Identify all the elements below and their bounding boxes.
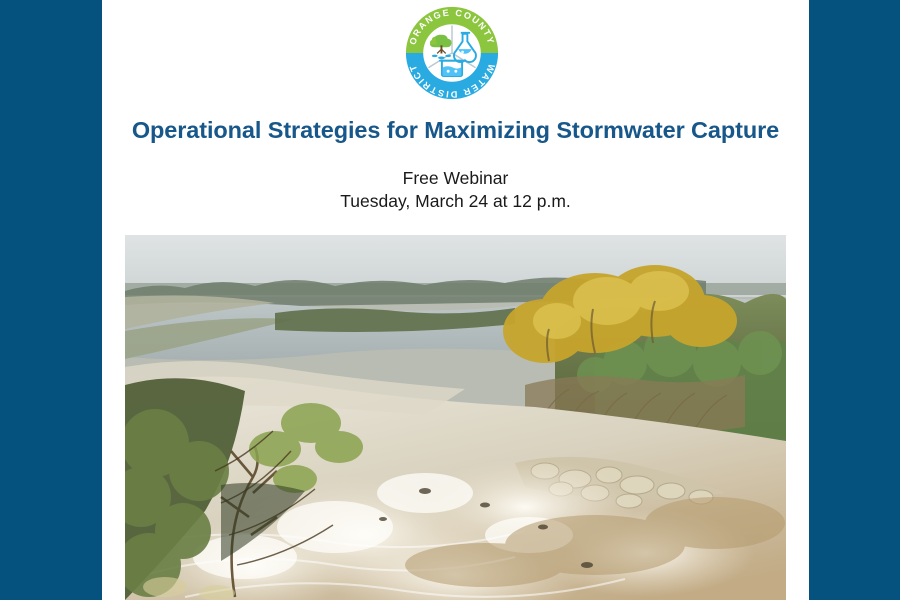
event-datetime-label: Tuesday, March 24 at 12 p.m. (102, 190, 809, 213)
event-type-label: Free Webinar (102, 167, 809, 190)
photo-illustration (125, 235, 786, 600)
page-title: Operational Strategies for Maximizing St… (102, 117, 809, 144)
event-details: Free Webinar Tuesday, March 24 at 12 p.m… (102, 167, 809, 213)
poster-canvas: ORANGE COUNTY WATER DISTRICT Operational… (0, 0, 900, 600)
logo-svg: ORANGE COUNTY WATER DISTRICT (404, 5, 500, 101)
orange-county-water-district-logo: ORANGE COUNTY WATER DISTRICT (404, 5, 500, 101)
stormwater-recharge-basin-photo (125, 235, 786, 600)
